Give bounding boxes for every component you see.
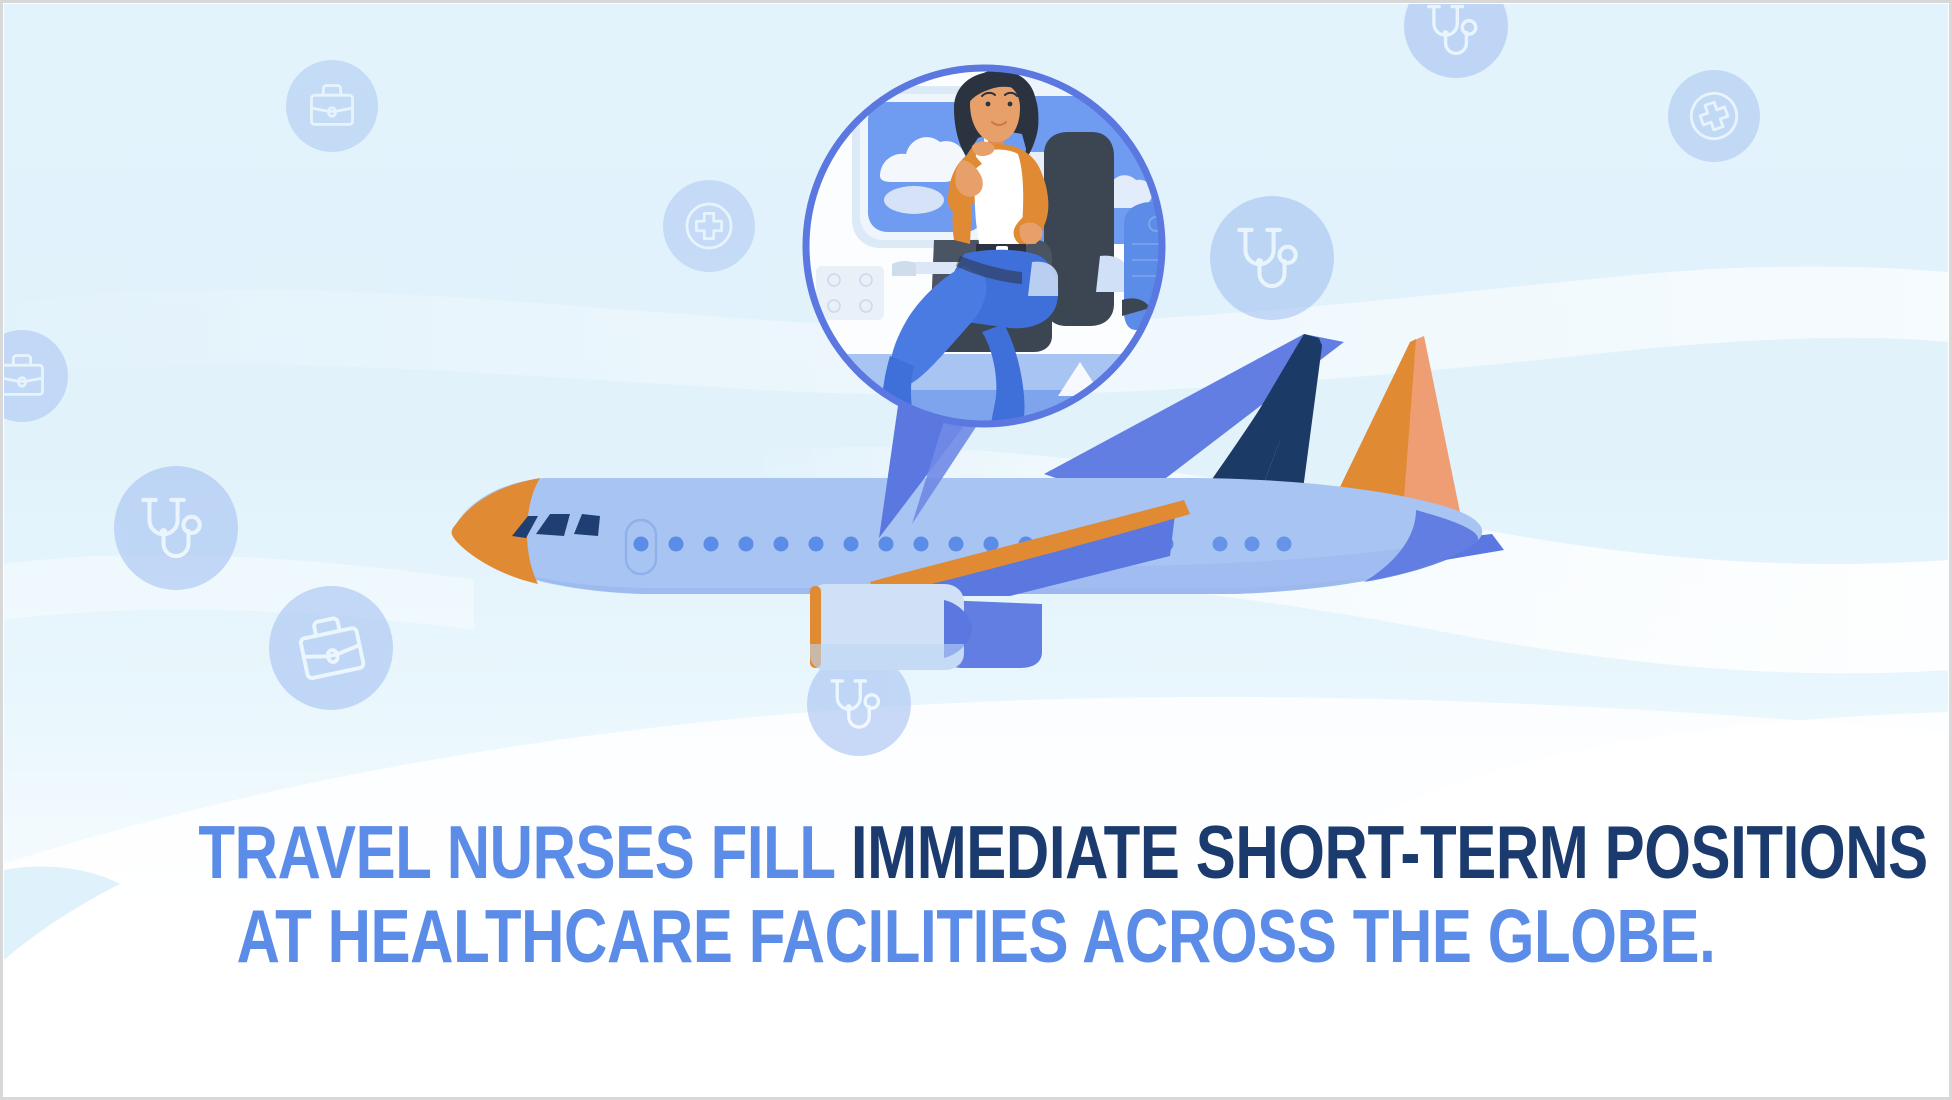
badge-briefcase-top-left xyxy=(286,60,378,152)
slide-stage: TRAVEL NURSES FILL IMMEDIATE SHORT-TERM … xyxy=(4,4,1948,1096)
headline-line-2: AT HEALTHCARE FACILITIES ACROSS THE GLOB… xyxy=(198,894,1753,978)
badge-medical-cross-right xyxy=(1668,70,1760,162)
headline-line-1-emphasis: IMMEDIATE SHORT-TERM POSITIONS xyxy=(851,810,1928,894)
infographic-slide: TRAVEL NURSES FILL IMMEDIATE SHORT-TERM … xyxy=(0,0,1952,1100)
badge-stethoscope-lower-left xyxy=(114,466,238,590)
badge-medical-cross-center-left xyxy=(663,180,755,272)
badge-briefcase-bottom-left xyxy=(269,586,393,710)
badge-stethoscope-center-right xyxy=(1210,196,1334,320)
headline-line-1-accent: TRAVEL NURSES FILL xyxy=(198,810,850,894)
headline-line-1: TRAVEL NURSES FILL IMMEDIATE SHORT-TERM … xyxy=(198,810,1753,894)
badge-briefcase-left-edge xyxy=(4,330,68,422)
headline-block: TRAVEL NURSES FILL IMMEDIATE SHORT-TERM … xyxy=(4,810,1948,978)
badge-stethoscope-top-right xyxy=(1404,4,1508,78)
